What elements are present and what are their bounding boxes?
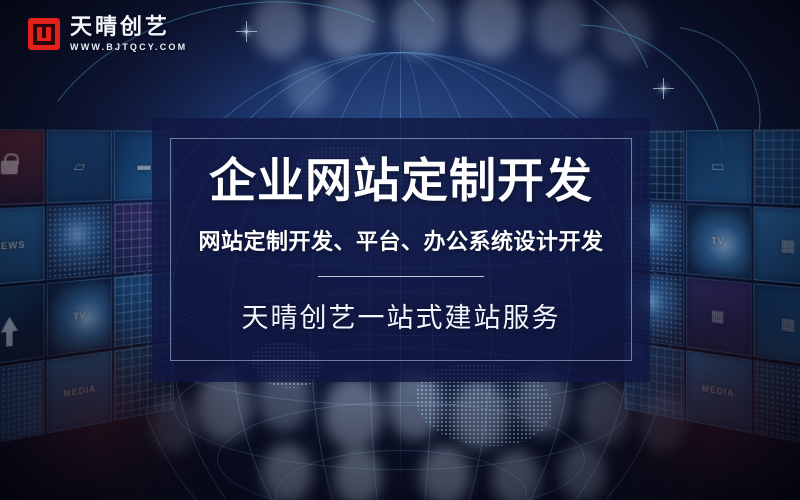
brand-name-cn: 天晴创艺 bbox=[70, 16, 187, 38]
tianqing-logo-mark-icon bbox=[28, 18, 60, 50]
headline-title: 企业网站定制开发 bbox=[209, 158, 593, 205]
headline-tagline: 天晴创艺一站式建站服务 bbox=[242, 296, 561, 335]
brand-website: WWW.BJTQCY.COM bbox=[70, 43, 187, 52]
headline-divider bbox=[318, 276, 484, 277]
headline-panel: 企业网站定制开发 网站定制开发、平台、办公系统设计开发 天晴创艺一站式建站服务 bbox=[152, 118, 650, 382]
promo-banner: ▱▬NEWSTVMEDIA ▭TV▦▦▦MEDIA 天晴创艺 WWW.BJTQC… bbox=[0, 0, 800, 500]
headline-subtitle: 网站定制开发、平台、办公系统设计开发 bbox=[198, 224, 603, 256]
brand-logo[interactable]: 天晴创艺 WWW.BJTQCY.COM bbox=[28, 16, 187, 52]
panel-content: 企业网站定制开发 网站定制开发、平台、办公系统设计开发 天晴创艺一站式建站服务 bbox=[152, 118, 650, 382]
brand-text-block: 天晴创艺 WWW.BJTQCY.COM bbox=[70, 16, 187, 52]
